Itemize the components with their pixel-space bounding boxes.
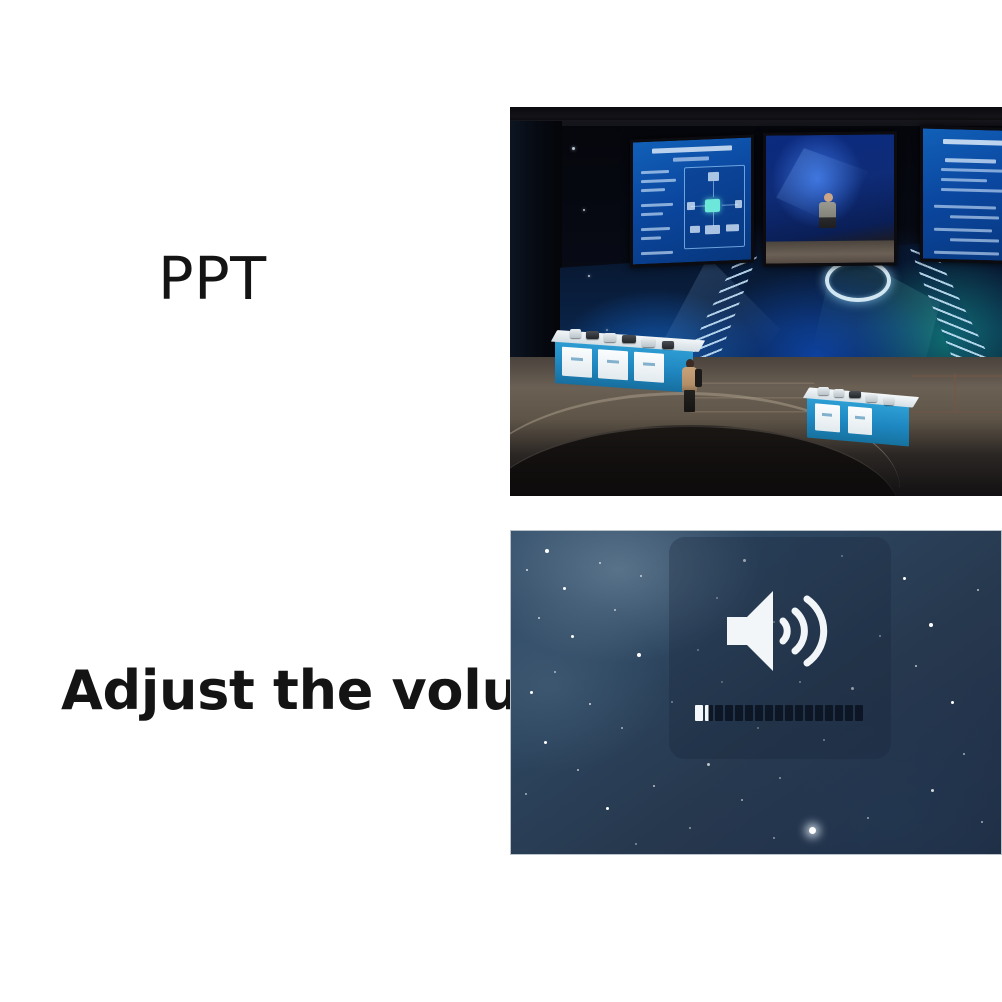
stage-light-speck [606, 329, 608, 331]
stage-light-speck [588, 275, 590, 277]
stage-light-speck [583, 209, 585, 211]
volume-segment[interactable] [695, 705, 703, 721]
volume-segment[interactable] [785, 705, 793, 721]
slide-right-title-bar [943, 139, 1002, 146]
volume-segment[interactable] [755, 705, 763, 721]
podium-left-panel-2 [598, 349, 628, 380]
slide-left-bullets [641, 170, 681, 252]
demo-device-3 [604, 333, 616, 342]
slide-right-body-lines [934, 168, 1002, 254]
slide-left-diagram [684, 165, 745, 250]
camera-feed-presenter-body [819, 201, 836, 227]
stage-scene [510, 107, 1002, 496]
demo-device-5 [642, 338, 655, 347]
volume-segment[interactable] [715, 705, 723, 721]
demo-device-11 [884, 397, 894, 405]
speaker-volume-icon [725, 585, 845, 677]
volume-segment[interactable] [705, 705, 713, 721]
demo-device-10 [866, 394, 877, 402]
camera-feed-floor [766, 241, 894, 264]
caption-ppt: PPT [158, 249, 267, 308]
slide-left-diagram-core [705, 199, 720, 213]
projection-screen-left [630, 134, 754, 267]
demo-device-7 [818, 387, 829, 395]
volume-segment[interactable] [775, 705, 783, 721]
stage-light-speck [572, 147, 575, 150]
volume-segment[interactable] [725, 705, 733, 721]
volume-segment[interactable] [845, 705, 853, 721]
volume-segment[interactable] [735, 705, 743, 721]
demo-device-2 [586, 331, 599, 339]
volume-segment[interactable] [805, 705, 813, 721]
conference-stage-photo [510, 107, 1002, 496]
projection-screen-right [920, 125, 1002, 264]
presenter-legs [684, 390, 695, 412]
podium-left-panel-3 [634, 352, 664, 383]
camera-feed [766, 134, 894, 263]
volume-osd-photo [510, 530, 1002, 855]
volume-osd-panel [669, 537, 891, 759]
podium-right-panel-1 [815, 403, 839, 433]
volume-segment[interactable] [795, 705, 803, 721]
slide-right-heading-bar [945, 158, 996, 163]
podium-right-panel-2 [848, 406, 872, 436]
stage-handrail-post [954, 373, 956, 411]
presenter-bag [695, 369, 702, 387]
slide-left-subtitle-bar [673, 156, 708, 161]
slide-left-title-bar [652, 146, 732, 154]
demo-device-6 [662, 341, 674, 349]
demo-device-1 [570, 329, 581, 338]
bright-star [809, 827, 816, 834]
volume-segment[interactable] [815, 705, 823, 721]
slide-left [633, 138, 751, 265]
volume-segment[interactable] [855, 705, 863, 721]
podium-left-panel-1 [562, 347, 592, 378]
demo-device-8 [834, 389, 844, 397]
slide-right [923, 128, 1002, 261]
volume-segment[interactable] [745, 705, 753, 721]
demo-device-9 [849, 391, 861, 398]
volume-segment[interactable] [835, 705, 843, 721]
volume-segment[interactable] [765, 705, 773, 721]
projection-screen-center [763, 131, 897, 266]
starfield-background [511, 531, 1001, 854]
stage-handrail [912, 375, 1002, 413]
volume-segment[interactable] [825, 705, 833, 721]
demo-device-4 [622, 335, 636, 343]
camera-feed-presenter-head [824, 193, 833, 202]
volume-level-meter[interactable] [695, 705, 863, 721]
